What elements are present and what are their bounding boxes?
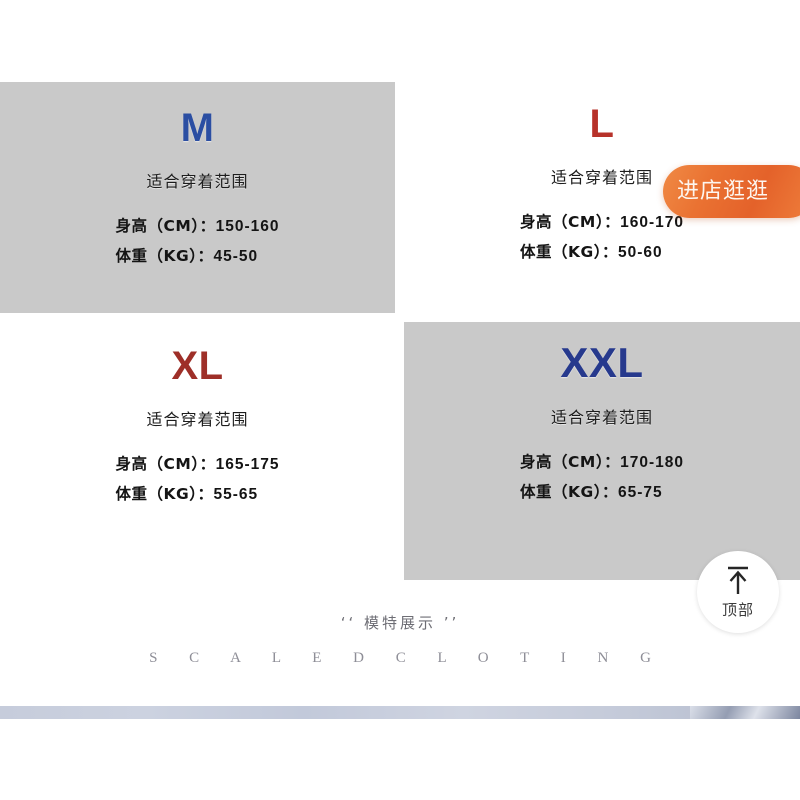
spec-block-m: 身高（CM）：150-160 体重（KG）：45-50 [116, 214, 280, 266]
enter-shop-button[interactable]: 进店逛逛 [663, 165, 800, 218]
height-label-xxl: 身高（CM）： [520, 453, 620, 471]
size-panel-m-content: M 适合穿着范围 身高（CM）：150-160 体重（KG）：45-50 [0, 108, 395, 266]
weight-label-l: 体重（KG）： [520, 243, 618, 261]
spec-block-l: 身高（CM）：160-170 体重（KG）：50-60 [520, 210, 684, 262]
next-image-preview-band [0, 706, 800, 719]
enter-shop-label: 进店逛逛 [677, 165, 769, 218]
range-title-xxl: 适合穿着范围 [404, 404, 800, 428]
weight-label-xxl: 体重（KG）： [520, 483, 618, 501]
back-to-top-button[interactable]: 顶部 [697, 551, 779, 633]
height-spec-xxl: 身高（CM）：170-180 [520, 450, 684, 472]
height-label-xl: 身高（CM）： [116, 455, 216, 473]
range-title-m: 适合穿着范围 [0, 168, 395, 192]
size-panel-xl-content: XL 适合穿着范围 身高（CM）：165-175 体重（KG）：55-65 [0, 346, 395, 504]
brand-caption: S C A L E D C L O T I N G [0, 650, 800, 667]
size-panel-xl: XL 适合穿着范围 身高（CM）：165-175 体重（KG）：55-65 [0, 322, 395, 580]
weight-spec-l: 体重（KG）：50-60 [520, 240, 684, 262]
height-spec-l: 身高（CM）：160-170 [520, 210, 684, 232]
weight-spec-m: 体重（KG）：45-50 [116, 244, 280, 266]
size-letter-l: L [404, 104, 800, 144]
weight-spec-xxl: 体重（KG）：65-75 [520, 480, 684, 502]
spec-block-xl: 身高（CM）：165-175 体重（KG）：55-65 [116, 452, 280, 504]
height-value-xxl: 170-180 [620, 454, 684, 471]
weight-value-xl: 55-65 [214, 486, 259, 503]
size-letter-xxl: XXL [404, 342, 800, 384]
size-panel-xxl: XXL 适合穿着范围 身高（CM）：170-180 体重（KG）：65-75 [404, 322, 800, 580]
height-spec-m: 身高（CM）：150-160 [116, 214, 280, 236]
size-letter-m: M [0, 108, 395, 148]
weight-label-xl: 体重（KG）： [116, 485, 214, 503]
product-detail-page: M 适合穿着范围 身高（CM）：150-160 体重（KG）：45-50 L 适… [0, 0, 800, 800]
height-label-l: 身高（CM）： [520, 213, 620, 231]
model-display-caption: ‘‘ 模特展示 ’’ [0, 612, 800, 633]
back-to-top-label: 顶部 [697, 599, 779, 620]
height-spec-xl: 身高（CM）：165-175 [116, 452, 280, 474]
weight-label-m: 体重（KG）： [116, 247, 214, 265]
range-title-xl: 适合穿着范围 [0, 406, 395, 430]
weight-value-l: 50-60 [618, 244, 663, 261]
height-label-m: 身高（CM）： [116, 217, 216, 235]
height-value-xl: 165-175 [216, 456, 280, 473]
size-panel-xxl-content: XXL 适合穿着范围 身高（CM）：170-180 体重（KG）：65-75 [404, 342, 800, 502]
weight-value-xxl: 65-75 [618, 484, 663, 501]
height-value-l: 160-170 [620, 214, 684, 231]
spec-block-xxl: 身高（CM）：170-180 体重（KG）：65-75 [520, 450, 684, 502]
weight-value-m: 45-50 [214, 248, 259, 265]
weight-spec-xl: 体重（KG）：55-65 [116, 482, 280, 504]
height-value-m: 150-160 [216, 218, 280, 235]
size-panel-m: M 适合穿着范围 身高（CM）：150-160 体重（KG）：45-50 [0, 82, 395, 313]
size-letter-xl: XL [0, 346, 395, 386]
arrow-up-to-line-icon [697, 565, 779, 600]
